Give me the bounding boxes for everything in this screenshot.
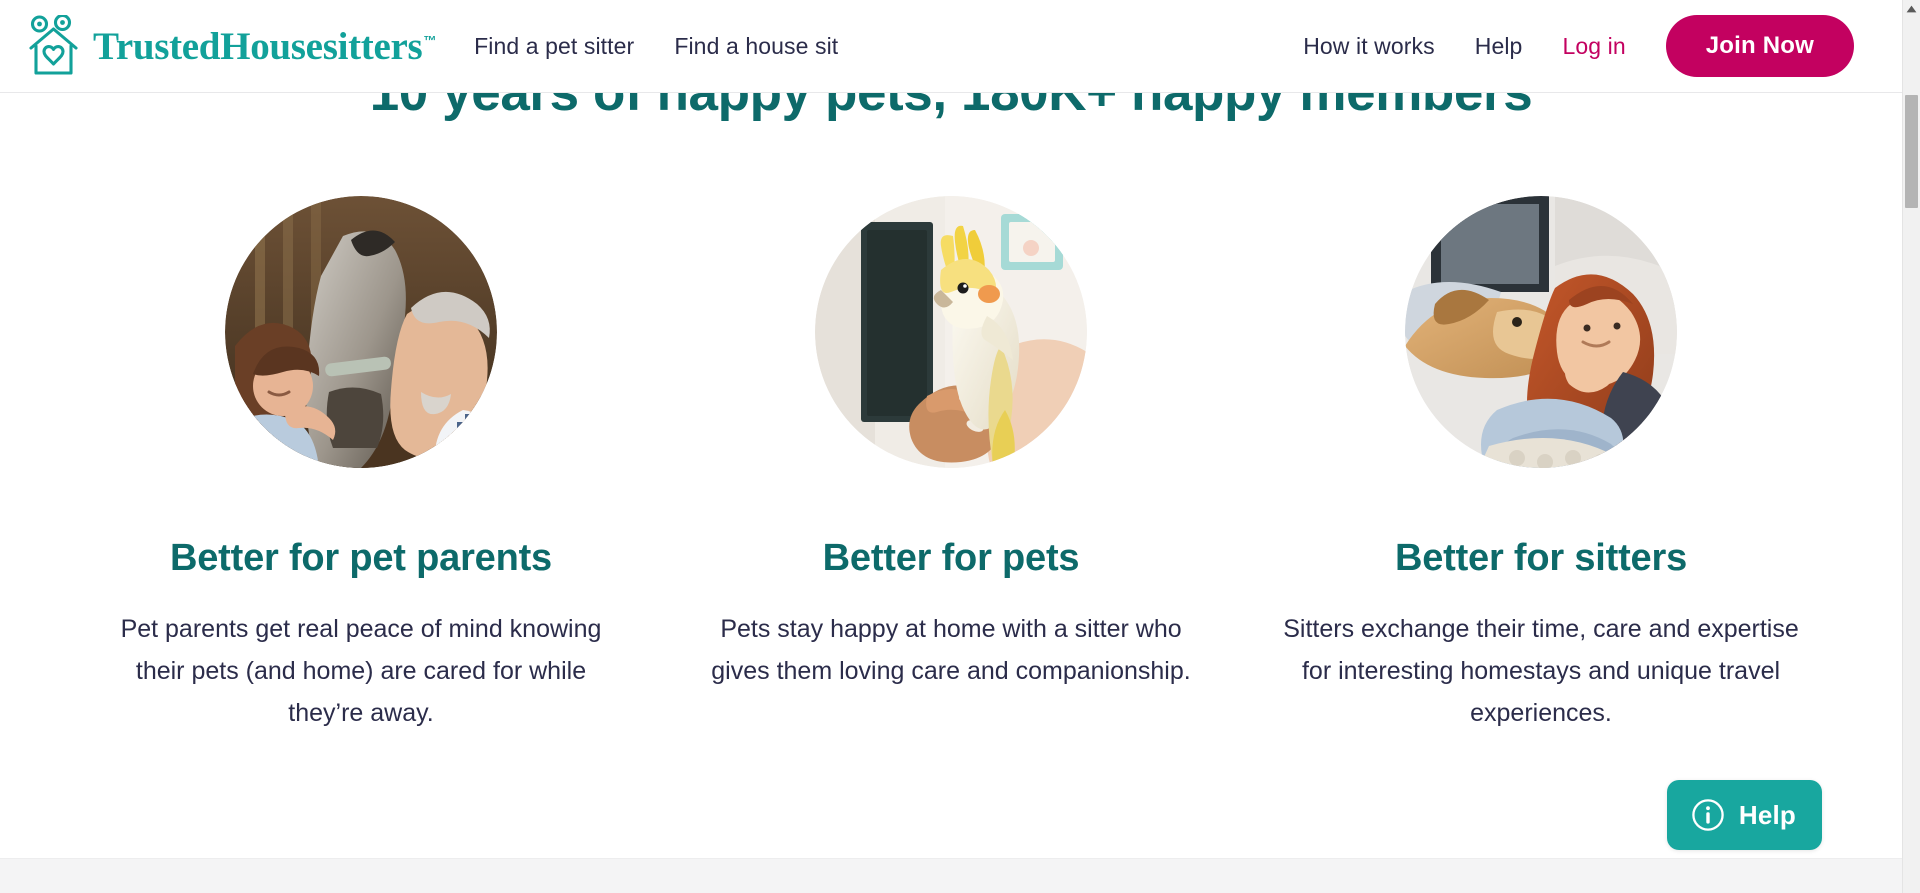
brand-wordmark: TrustedHousesitters™ <box>93 27 436 66</box>
benefit-cards: Better for pet parents Pet parents get r… <box>0 196 1902 734</box>
login-link[interactable]: Log in <box>1562 33 1625 60</box>
benefit-card-pet-parents: Better for pet parents Pet parents get r… <box>126 196 596 734</box>
card-body: Pets stay happy at home with a sitter wh… <box>701 608 1201 692</box>
scrollbar-thumb[interactable] <box>1905 95 1918 208</box>
benefit-card-sitters: Better for sitters Sitters exchange thei… <box>1306 196 1776 734</box>
nav-find-a-pet-sitter[interactable]: Find a pet sitter <box>474 33 634 60</box>
house-heart-pets-logo-icon <box>26 15 84 77</box>
browser-page: 10 years of happy pets, 180K+ happy memb… <box>0 0 1920 893</box>
info-circle-icon <box>1691 798 1725 832</box>
site-header: TrustedHousesitters™ Find a pet sitter F… <box>0 0 1902 93</box>
brand-name-text: TrustedHousesitters <box>93 25 422 68</box>
page-viewport: 10 years of happy pets, 180K+ happy memb… <box>0 0 1902 893</box>
brand-logo-link[interactable]: TrustedHousesitters™ <box>26 15 436 77</box>
nav-help[interactable]: Help <box>1475 33 1523 60</box>
benefit-card-pets: Better for pets Pets stay happy at home … <box>716 196 1186 734</box>
nav-find-a-house-sit[interactable]: Find a house sit <box>674 33 838 60</box>
photo-cockatiel-on-hand <box>815 196 1087 468</box>
join-now-button[interactable]: Join Now <box>1666 15 1854 77</box>
card-title: Better for pets <box>823 537 1080 580</box>
secondary-nav: How it works Help Log in Join Now <box>1303 15 1854 77</box>
help-widget-label: Help <box>1739 800 1796 831</box>
primary-nav: Find a pet sitter Find a house sit <box>474 33 838 60</box>
card-title: Better for pet parents <box>170 537 552 580</box>
photo-couple-with-horse <box>225 196 497 468</box>
page-bottom-band <box>0 858 1902 893</box>
photo-woman-with-dog <box>1405 196 1677 468</box>
help-widget-button[interactable]: Help <box>1667 780 1822 850</box>
chevron-up-icon[interactable] <box>1903 0 1920 18</box>
trademark-symbol: ™ <box>423 33 436 48</box>
card-body: Pet parents get real peace of mind knowi… <box>111 608 611 734</box>
nav-how-it-works[interactable]: How it works <box>1303 33 1435 60</box>
card-body: Sitters exchange their time, care and ex… <box>1281 608 1801 734</box>
card-title: Better for sitters <box>1395 537 1687 580</box>
vertical-scrollbar[interactable] <box>1902 0 1920 893</box>
